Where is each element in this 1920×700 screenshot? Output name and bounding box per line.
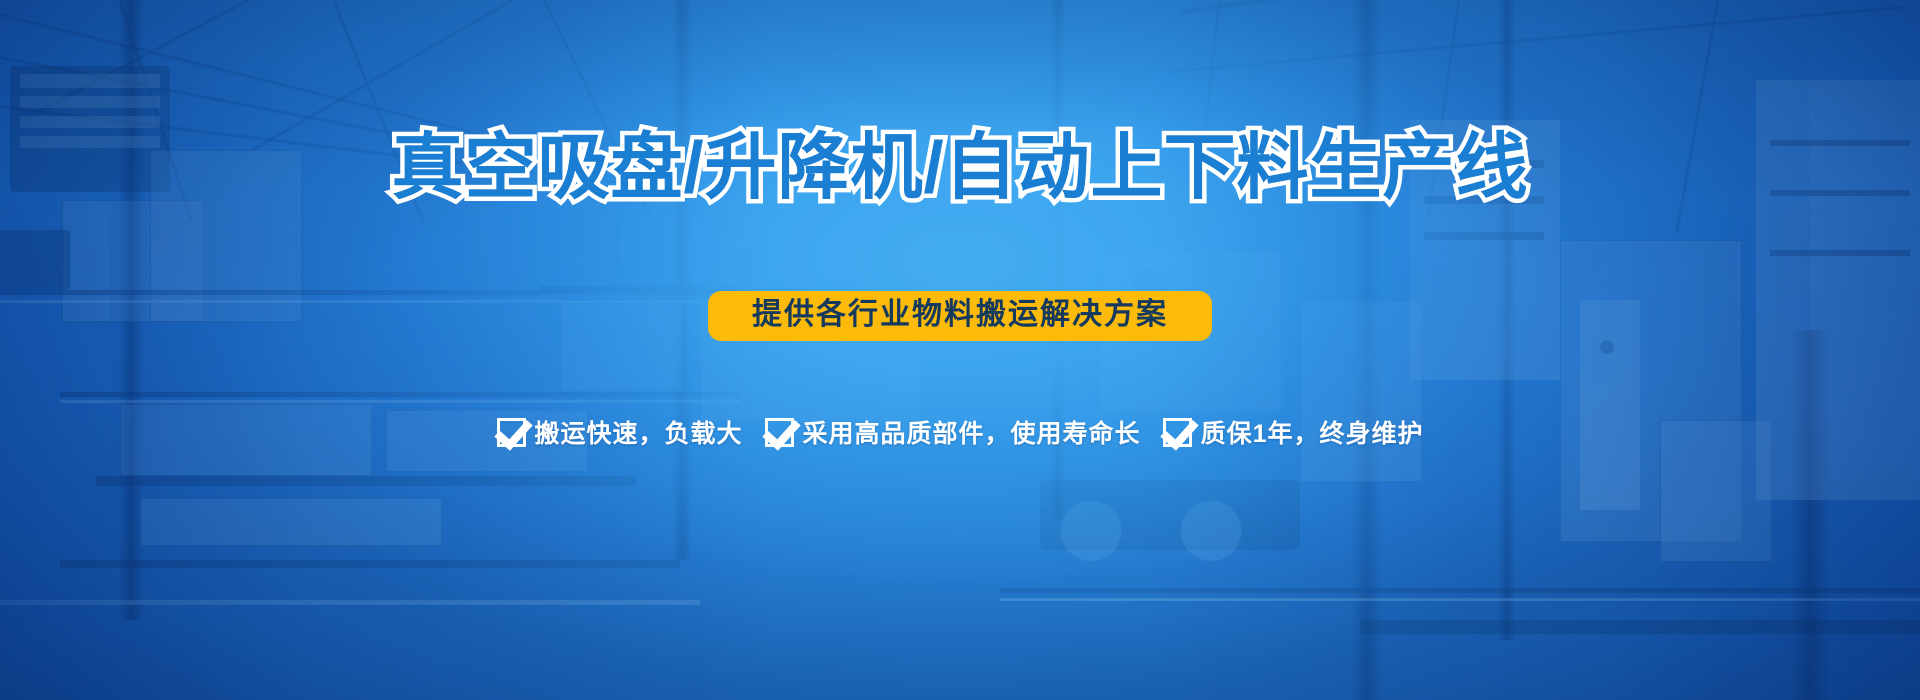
checkbox-checked-icon bbox=[765, 418, 794, 447]
subtitle-pill: 提供各行业物料搬运解决方案 bbox=[708, 291, 1212, 341]
feature-label-1: 搬运快速，负载大 bbox=[535, 414, 743, 450]
checkbox-checked-icon bbox=[497, 418, 526, 447]
checkbox-checked-icon bbox=[1163, 418, 1192, 447]
promo-banner: 真空吸盘/升降机/自动上下料生产线 真空吸盘/升降机/自动上下料生产线 提供各行… bbox=[0, 0, 1920, 700]
feature-label-2: 采用高品质部件，使用寿命长 bbox=[803, 414, 1141, 450]
subtitle-pill-wrap: 提供各行业物料搬运解决方案 bbox=[0, 291, 1920, 341]
feature-list: 搬运快速，负载大 采用高品质部件，使用寿命长 质保1年，终身维护 bbox=[0, 414, 1920, 450]
feature-item-2: 采用高品质部件，使用寿命长 bbox=[765, 414, 1141, 450]
banner-headline-fill: 真空吸盘/升降机/自动上下料生产线 bbox=[0, 131, 1920, 205]
feature-item-3: 质保1年，终身维护 bbox=[1163, 414, 1424, 450]
feature-label-3: 质保1年，终身维护 bbox=[1201, 414, 1424, 450]
feature-item-1: 搬运快速，负载大 bbox=[497, 414, 743, 450]
